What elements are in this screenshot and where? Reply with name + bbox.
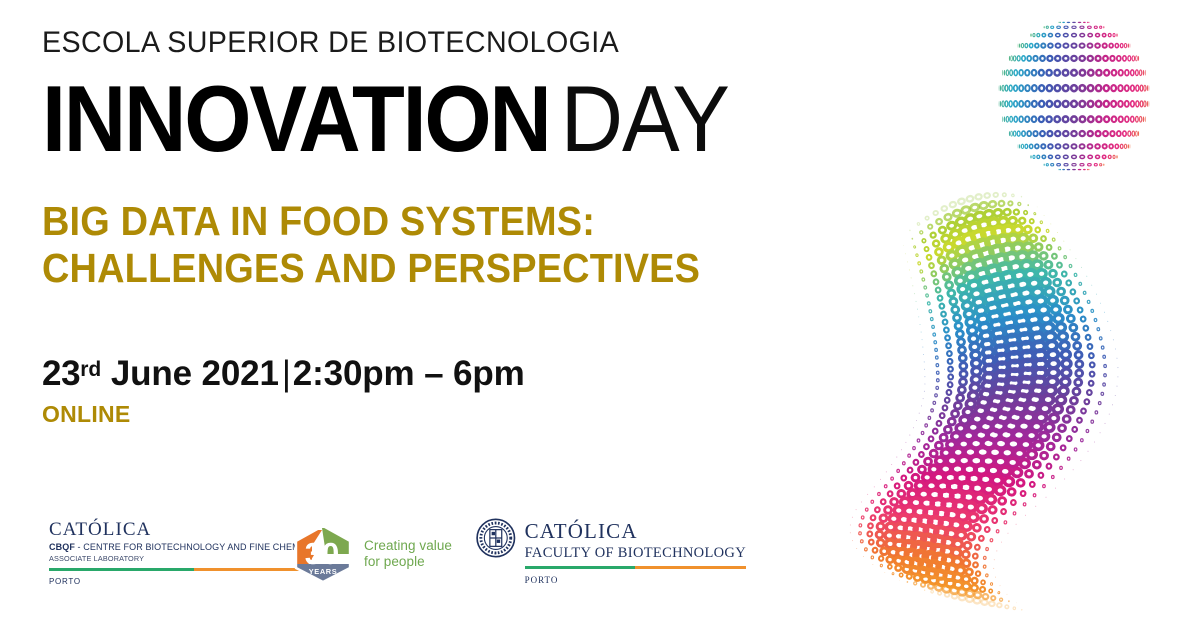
event-mode-badge: ONLINE — [42, 401, 922, 427]
faculty-brand-rule — [525, 566, 746, 569]
logo-cbqf: CATÓLICA CBQF - CENTRE FOR BIOTECHNOLOGY… — [40, 518, 292, 588]
page-title: INNOVATIONDAY — [42, 76, 852, 162]
svg-text:30: 30 — [305, 536, 339, 571]
subtitle-line-2: CHALLENGES AND PERSPECTIVES — [42, 245, 856, 292]
cbqf-unit-name: CBQF - CENTRE FOR BIOTECHNOLOGY AND FINE… — [49, 541, 327, 553]
sponsor-logo-strip: CATÓLICA CBQF - CENTRE FOR BIOTECHNOLOGY… — [40, 518, 780, 604]
event-time-range: 2:30pm – 6pm — [293, 354, 525, 393]
logo-anniversary: 30 YEARS Creating value for people — [292, 524, 482, 584]
faculty-unit-name: FACULTY OF BIOTECHNOLOGY — [525, 544, 746, 562]
cbqf-unit-subtitle: ASSOCIATE LABORATORY — [49, 553, 327, 564]
halftone-dot-sphere — [986, 12, 1162, 184]
event-poster: ESCOLA SUPERIOR DE BIOTECNOLOGIA INNOVAT… — [0, 0, 1200, 628]
anniversary-tagline-line-1: Creating value — [364, 538, 452, 554]
anniversary-tagline: Creating value for people — [364, 538, 452, 570]
event-datetime-block: 23rd June 2021|2:30pm – 6pm ONLINE — [42, 350, 922, 427]
event-subtitle: BIG DATA IN FOOD SYSTEMS: CHALLENGES AND… — [42, 198, 856, 292]
thirty-years-hexagon-badge-icon: 30 YEARS — [292, 524, 354, 584]
title-word-day: DAY — [561, 66, 729, 171]
event-month-year: June 2021 — [101, 354, 279, 393]
datetime-separator: | — [279, 354, 293, 393]
faculty-city: PORTO — [525, 574, 746, 586]
poster-text-column: ESCOLA SUPERIOR DE BIOTECNOLOGIA INNOVAT… — [42, 26, 922, 427]
rule-segment-green — [49, 568, 194, 571]
organisation-eyebrow: ESCOLA SUPERIOR DE BIOTECNOLOGIA — [42, 26, 882, 60]
event-day-ordinal: rd — [80, 358, 101, 381]
event-date-time: 23rd June 2021|2:30pm – 6pm — [42, 350, 922, 394]
rule-segment-orange — [635, 566, 746, 569]
anniversary-tagline-line-2: for people — [364, 554, 452, 570]
title-word-innovation: INNOVATION — [42, 66, 550, 171]
subtitle-line-1: BIG DATA IN FOOD SYSTEMS: — [42, 198, 856, 245]
rule-segment-green — [525, 566, 636, 569]
logo-faculty-of-biotechnology: CATÓLICA FACULTY OF BIOTECHNOLOGY PORTO — [476, 518, 746, 586]
svg-text:YEARS: YEARS — [309, 567, 337, 576]
catolica-crest-seal-icon — [476, 518, 516, 558]
faculty-brand-name: CATÓLICA — [525, 520, 746, 543]
event-day-number: 23 — [42, 354, 80, 393]
